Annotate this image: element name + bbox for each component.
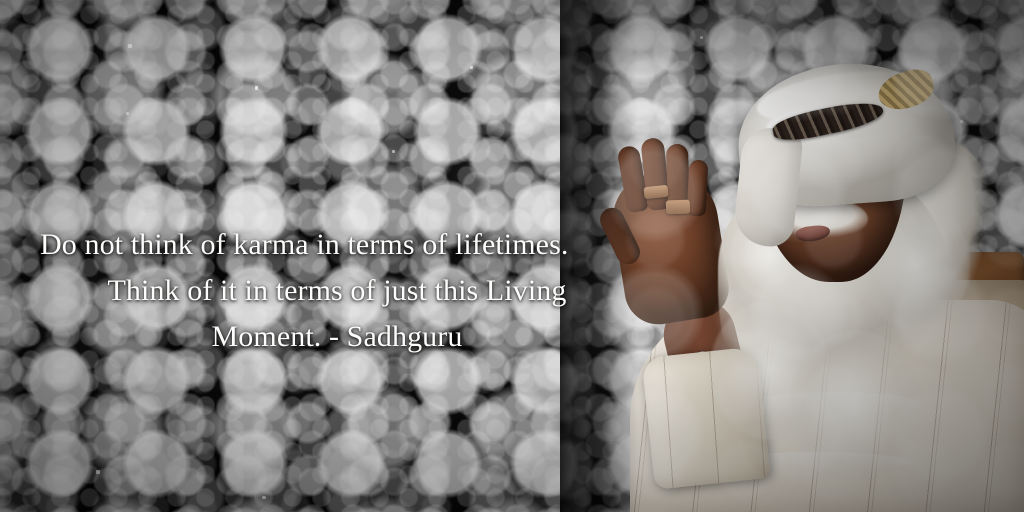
quote-line-3: Moment. - Sadhguru bbox=[22, 314, 652, 360]
quote-graphic-canvas: Do not think of karma in terms of lifeti… bbox=[0, 0, 1024, 512]
quote-text-block: Do not think of karma in terms of lifeti… bbox=[22, 222, 652, 360]
quote-line-1: Do not think of karma in terms of lifeti… bbox=[22, 222, 652, 268]
quote-line-2: Think of it in terms of just this Living bbox=[22, 268, 652, 314]
